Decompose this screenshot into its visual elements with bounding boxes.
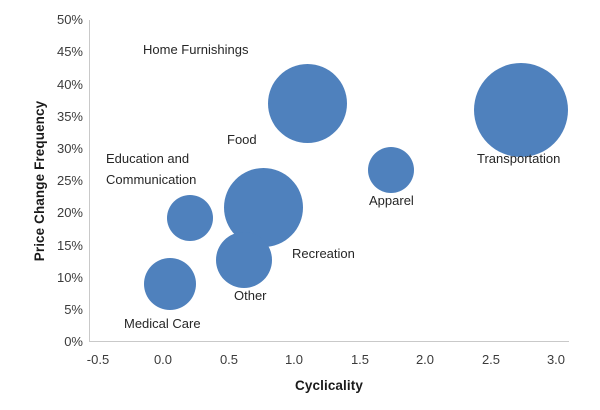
label-education-and-communication-line2: Communication [106,172,196,187]
y-tick-10: 10% [13,271,83,285]
bubble-medical-care[interactable] [144,258,196,310]
y-tick-35: 35% [13,110,83,124]
y-tick-15: 15% [13,239,83,253]
bubble-chart: Price Change Frequency 50% 45% 40% 35% 3… [0,0,600,410]
x-tick-0-0: 0.0 [133,352,193,367]
label-other: Other [234,288,267,303]
label-medical-care: Medical Care [124,316,201,331]
bubble-apparel[interactable] [368,147,414,193]
label-education-and-communication-line1: Education and [106,151,189,166]
plot-area: Home Furnishings Transportation Food App… [89,20,569,342]
label-apparel: Apparel [369,193,414,208]
y-tick-30: 30% [13,142,83,156]
x-tick-2-0: 2.0 [395,352,455,367]
label-home-furnishings: Home Furnishings [143,42,249,57]
x-tick-1-0: 1.0 [264,352,324,367]
x-tick-neg0-5: -0.5 [68,352,128,367]
x-tick-0-5: 0.5 [199,352,259,367]
y-tick-0: 0% [13,335,83,349]
y-tick-45: 45% [13,45,83,59]
x-axis-title: Cyclicality [89,378,569,393]
label-transportation: Transportation [477,151,560,166]
x-tick-3-0: 3.0 [526,352,586,367]
y-tick-5: 5% [13,303,83,317]
bubble-home-furnishings[interactable] [268,64,347,143]
bubble-transportation[interactable] [474,63,568,157]
y-tick-40: 40% [13,78,83,92]
x-tick-2-5: 2.5 [461,352,521,367]
bubble-other-recreation[interactable] [216,232,272,288]
x-tick-1-5: 1.5 [330,352,390,367]
y-tick-20: 20% [13,206,83,220]
label-food: Food [227,132,257,147]
bubble-education-and-communication[interactable] [167,195,213,241]
label-recreation: Recreation [292,246,355,261]
y-tick-25: 25% [13,174,83,188]
y-tick-50: 50% [13,13,83,27]
